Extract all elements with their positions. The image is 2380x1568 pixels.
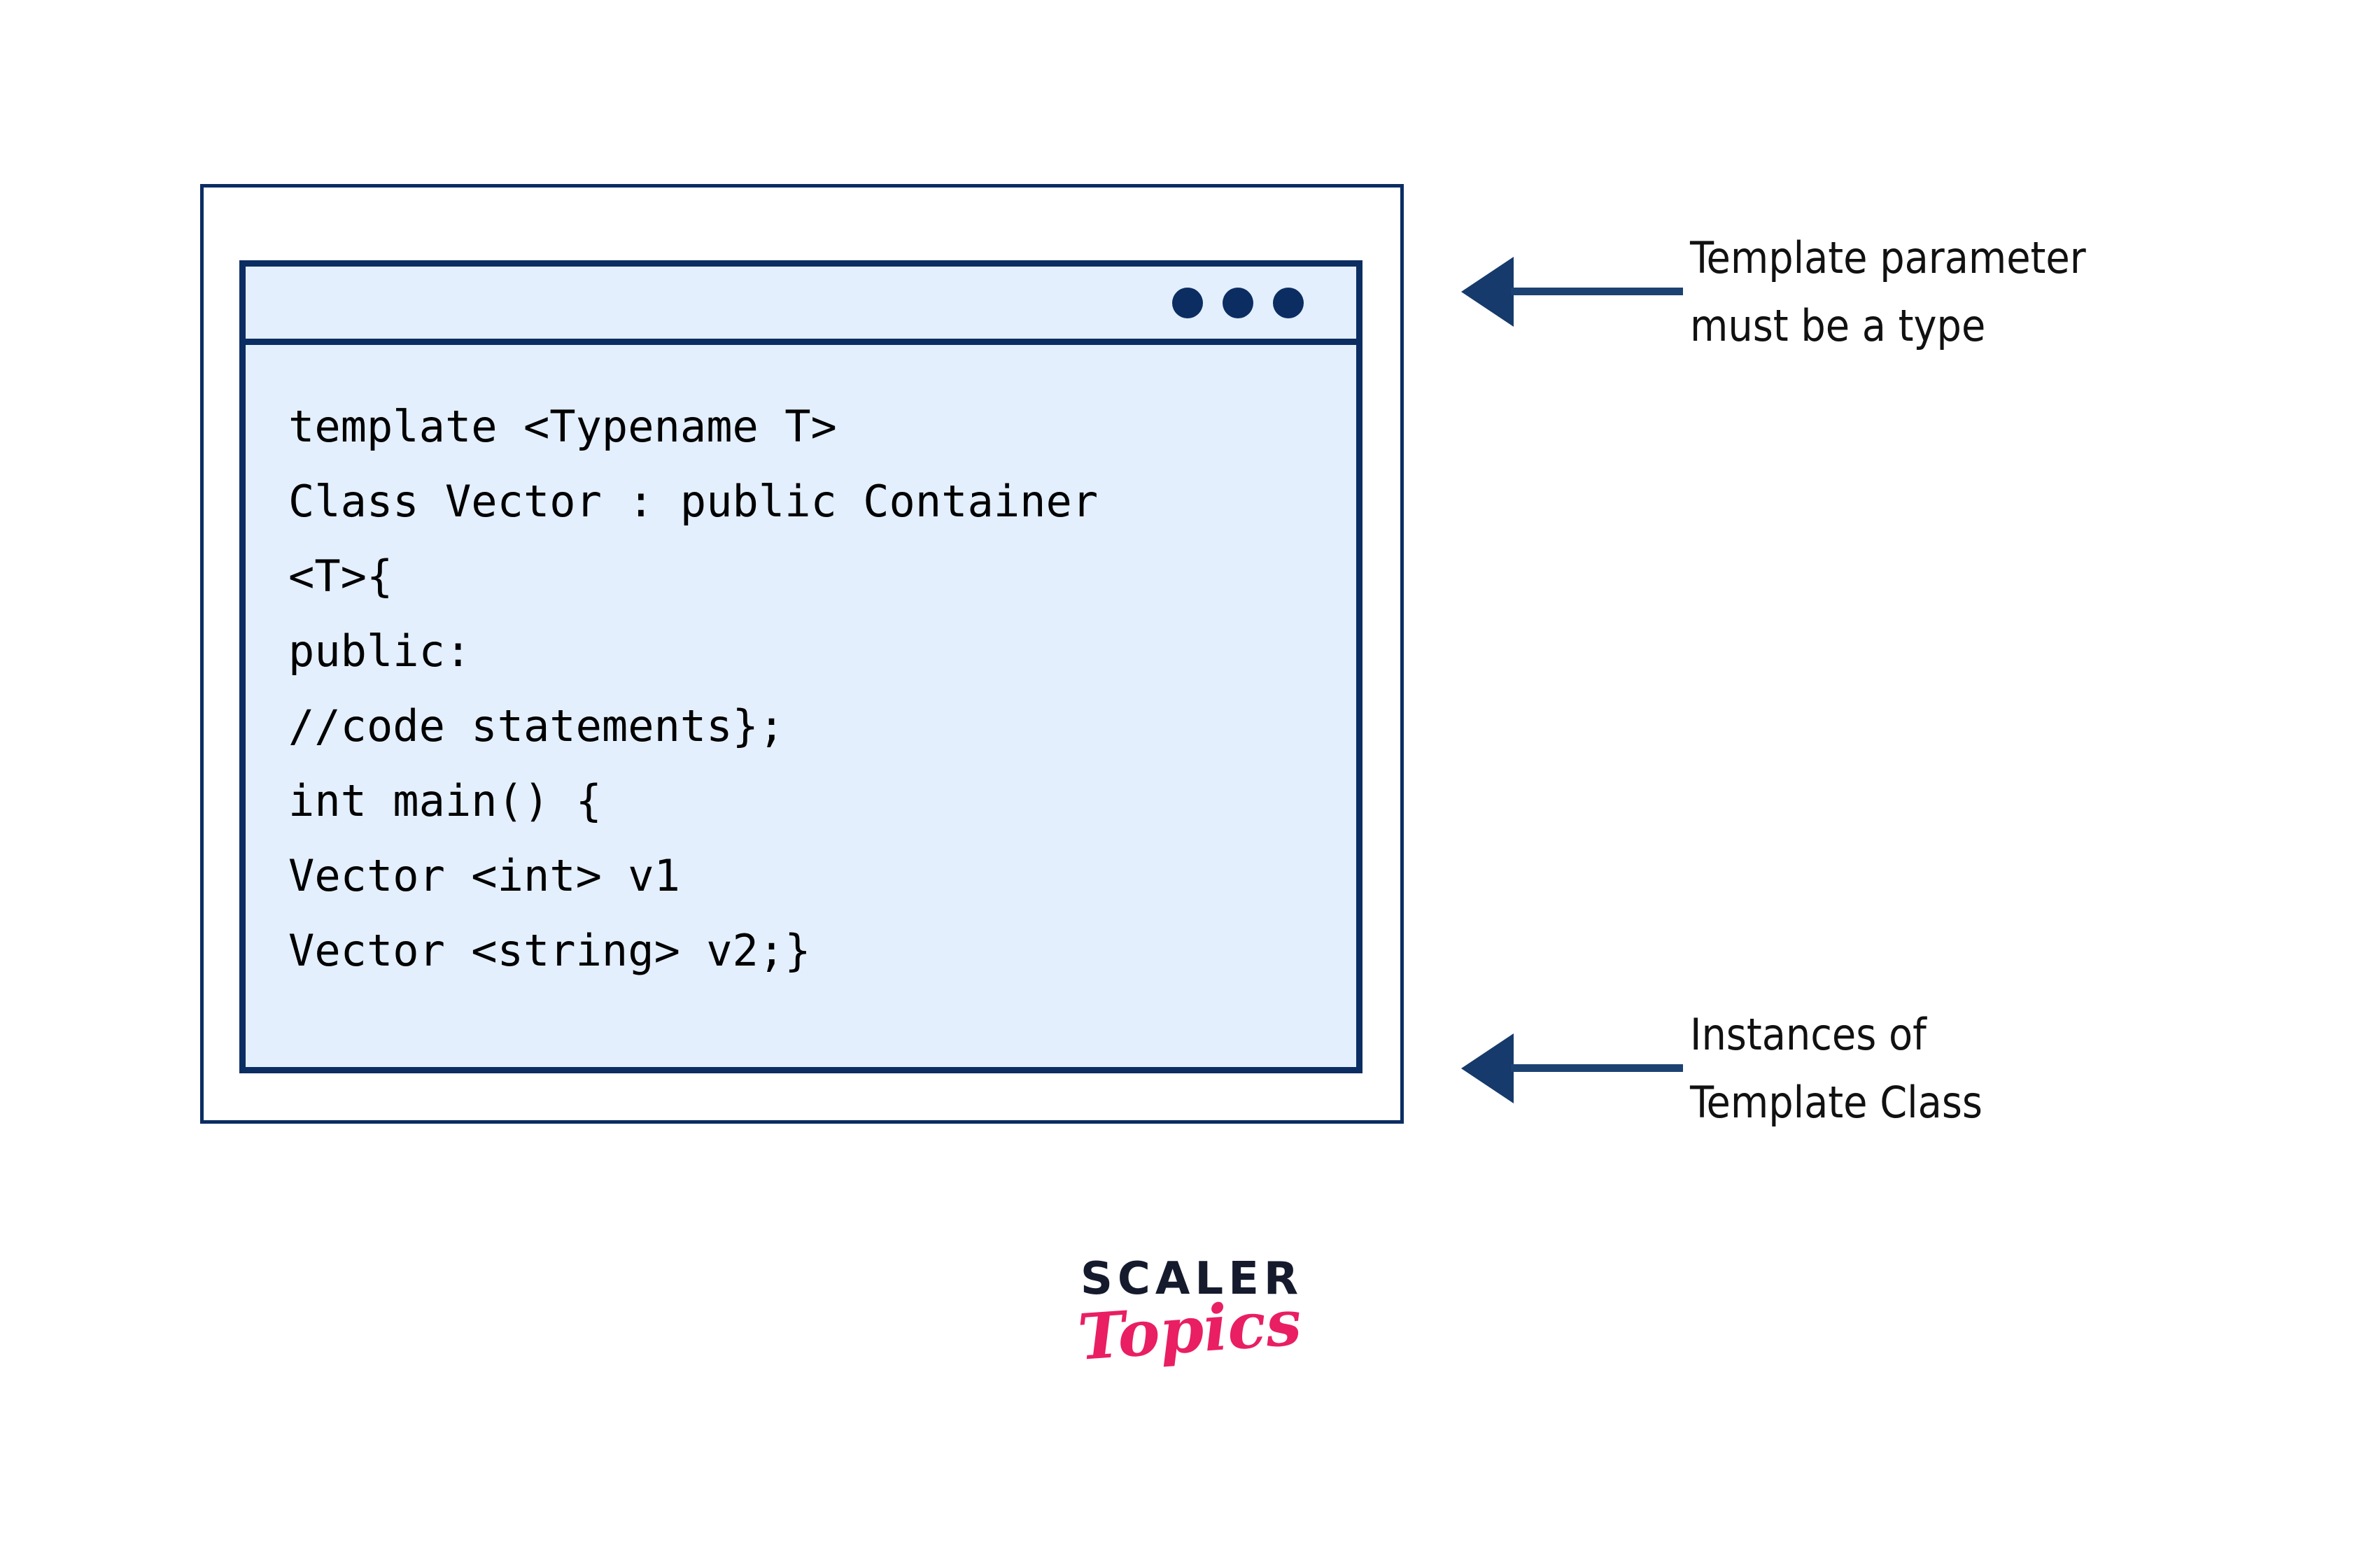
window-dot-3-icon[interactable]	[1273, 288, 1304, 318]
annotation-label-line1: Instances of	[1690, 1009, 1927, 1060]
code-line: Vector <int> v1	[288, 838, 1356, 913]
annotation-label-line1: Template parameter	[1690, 232, 2086, 283]
code-line: //code statements};	[288, 688, 1356, 763]
annotation-label: Template parameter must be a type	[1690, 220, 2086, 360]
code-body: template <Typename T> Class Vector : pub…	[246, 345, 1356, 1067]
code-line: public:	[288, 614, 1356, 688]
code-line: <T>{	[288, 539, 1356, 614]
annotation-label-line2: must be a type	[1690, 292, 2086, 360]
code-window: template <Typename T> Class Vector : pub…	[239, 260, 1362, 1073]
window-titlebar	[246, 267, 1356, 345]
code-line: Class Vector : public Container	[288, 464, 1356, 539]
code-line: Vector <string> v2;}	[288, 913, 1356, 988]
scaler-topics-logo: SCALER Topics	[1071, 1256, 1309, 1362]
arrow-left-icon	[1459, 220, 1690, 367]
annotation-instances: Instances of Template Class	[1459, 997, 1983, 1144]
code-line: template <Typename T>	[288, 389, 1356, 464]
annotation-label: Instances of Template Class	[1690, 997, 1983, 1136]
annotation-label-line2: Template Class	[1690, 1068, 1983, 1136]
logo-secondary-text: Topics	[1069, 1290, 1310, 1369]
code-line: int main() {	[288, 763, 1356, 838]
window-control-dots	[1172, 288, 1304, 318]
arrow-left-icon	[1459, 997, 1690, 1144]
window-dot-2-icon[interactable]	[1223, 288, 1253, 318]
window-dot-1-icon[interactable]	[1172, 288, 1203, 318]
diagram-canvas: template <Typename T> Class Vector : pub…	[0, 0, 2380, 1568]
annotation-template-parameter: Template parameter must be a type	[1459, 220, 2086, 367]
